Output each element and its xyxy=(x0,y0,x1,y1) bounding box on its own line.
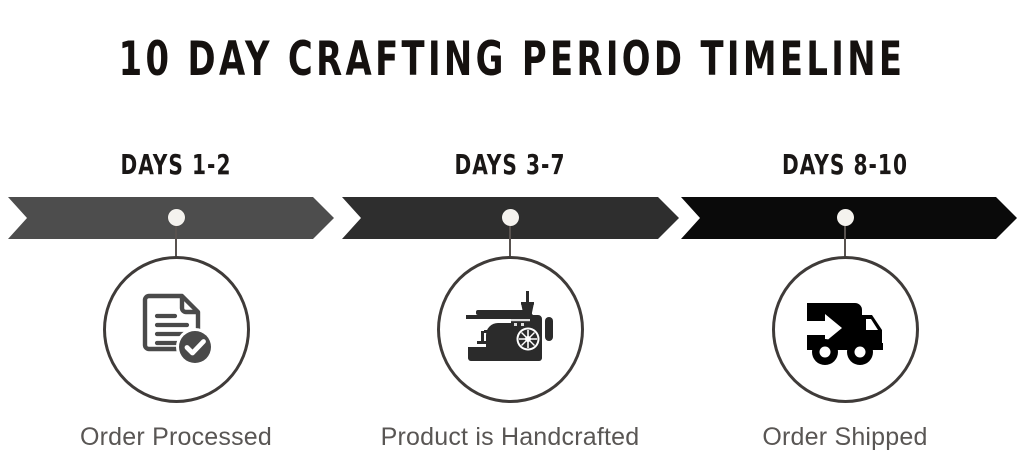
connector-line-2 xyxy=(509,226,511,258)
day-label-stage-3: DAYS 8-10 xyxy=(685,148,1005,182)
connector-line-3 xyxy=(844,226,846,258)
sewing-machine-icon xyxy=(466,289,554,371)
icon-circle-stage-2 xyxy=(437,256,584,403)
caption-stage-3: Order Shipped xyxy=(645,421,1024,453)
page-title: 10 DAY CRAFTING PERIOD TIMELINE xyxy=(102,32,921,88)
connector-line-1 xyxy=(175,226,177,258)
delivery-truck-icon xyxy=(801,293,889,367)
timeline-infographic: 10 DAY CRAFTING PERIOD TIMELINE DAYS 1-2 xyxy=(0,0,1024,457)
icon-circle-stage-3 xyxy=(772,256,919,403)
timeline-node-dot-3 xyxy=(837,209,854,226)
day-label-stage-2: DAYS 3-7 xyxy=(350,148,670,182)
timeline-node-dot-1 xyxy=(168,209,185,226)
document-check-icon xyxy=(133,287,219,373)
day-label-stage-1: DAYS 1-2 xyxy=(16,148,336,182)
icon-circle-stage-1 xyxy=(103,256,250,403)
timeline-node-dot-2 xyxy=(502,209,519,226)
